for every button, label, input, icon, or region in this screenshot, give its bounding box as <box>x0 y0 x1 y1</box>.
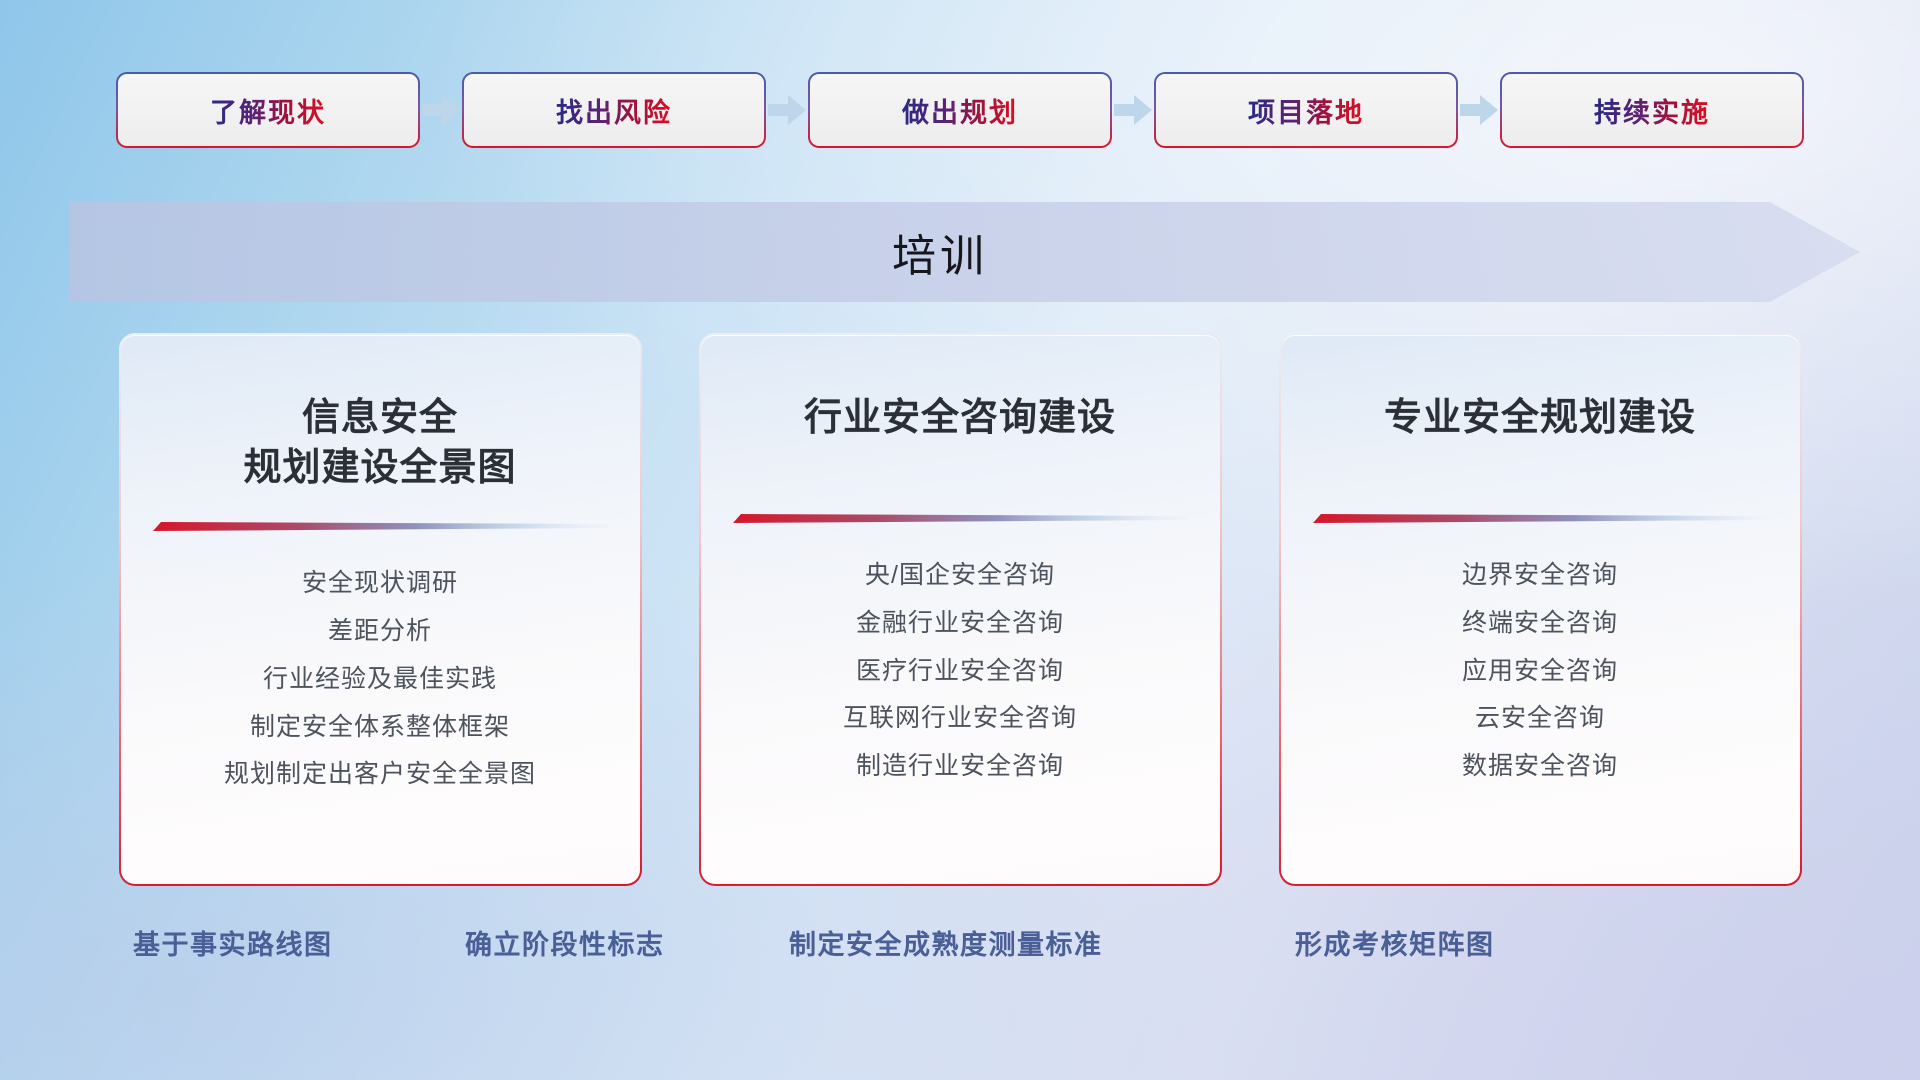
list-item: 数据安全咨询 <box>1462 750 1618 784</box>
footer-label-4: 形成考核矩阵图 <box>1295 910 1495 974</box>
card-1-divider <box>153 519 608 535</box>
footer-label-3: 制定安全成熟度测量标准 <box>789 910 1103 974</box>
card-1-title: 信息安全 规划建设全景图 <box>243 393 516 493</box>
list-item: 制造行业安全咨询 <box>856 750 1064 784</box>
step-box-3[interactable]: 做出规划 <box>810 74 1110 146</box>
list-item: 医疗行业安全咨询 <box>856 655 1064 689</box>
step-arrow-3 <box>1110 74 1156 146</box>
card-1[interactable]: 信息安全 规划建设全景图 安全现状调研 <box>119 333 642 886</box>
list-item: 安全现状调研 <box>302 567 458 601</box>
cards-row: 信息安全 规划建设全景图 安全现状调研 <box>0 333 1920 886</box>
list-item: 制定安全体系整体框架 <box>250 711 510 745</box>
step-box-5[interactable]: 持续实施 <box>1502 74 1802 146</box>
list-item: 边界安全咨询 <box>1462 559 1618 593</box>
card-2-divider <box>733 511 1188 527</box>
card-3-title: 专业安全规划建设 <box>1384 393 1696 443</box>
step-box-1[interactable]: 了解现状 <box>118 74 418 146</box>
card-2-list: 央/国企安全咨询 金融行业安全咨询 医疗行业安全咨询 互联网行业安全咨询 制造行… <box>843 559 1077 784</box>
list-item: 终端安全咨询 <box>1462 607 1618 641</box>
banner-title: 培训 <box>70 202 1810 302</box>
list-item: 规划制定出客户安全全景图 <box>224 758 536 792</box>
card-1-list: 安全现状调研 差距分析 行业经验及最佳实践 制定安全体系整体框架 规划制定出客户… <box>224 567 536 792</box>
process-steps-row: 了解现状 找出风险 做出规划 项目落地 持续实施 <box>0 74 1920 146</box>
footer-label-1: 基于事实路线图 <box>133 910 333 974</box>
step-arrow-4 <box>1456 74 1502 146</box>
step-label-1: 了解现状 <box>210 91 326 130</box>
card-2[interactable]: 行业安全咨询建设 央/国企安全咨询 <box>699 333 1222 886</box>
training-banner: 培训 <box>70 202 1860 302</box>
list-item: 互联网行业安全咨询 <box>843 702 1077 736</box>
card-2-title: 行业安全咨询建设 <box>804 393 1116 443</box>
step-label-4: 项目落地 <box>1248 91 1364 130</box>
list-item: 央/国企安全咨询 <box>865 559 1055 593</box>
step-label-2: 找出风险 <box>556 91 672 130</box>
list-item: 云安全咨询 <box>1475 702 1605 736</box>
list-item: 金融行业安全咨询 <box>856 607 1064 641</box>
card-3-list: 边界安全咨询 终端安全咨询 应用安全咨询 云安全咨询 数据安全咨询 <box>1462 559 1618 784</box>
card-3-divider <box>1313 511 1768 527</box>
list-item: 行业经验及最佳实践 <box>263 663 497 697</box>
step-label-3: 做出规划 <box>902 91 1018 130</box>
step-arrow-2 <box>764 74 810 146</box>
step-box-2[interactable]: 找出风险 <box>464 74 764 146</box>
footer-label-2: 确立阶段性标志 <box>465 910 665 974</box>
list-item: 应用安全咨询 <box>1462 655 1618 689</box>
list-item: 差距分析 <box>328 615 432 649</box>
step-label-5: 持续实施 <box>1594 91 1710 130</box>
footer-labels-row: 基于事实路线图 确立阶段性标志 制定安全成熟度测量标准 形成考核矩阵图 <box>0 910 1920 974</box>
step-arrow-1 <box>418 74 464 146</box>
step-box-4[interactable]: 项目落地 <box>1156 74 1456 146</box>
card-3[interactable]: 专业安全规划建设 边界安全咨询 <box>1279 333 1802 886</box>
